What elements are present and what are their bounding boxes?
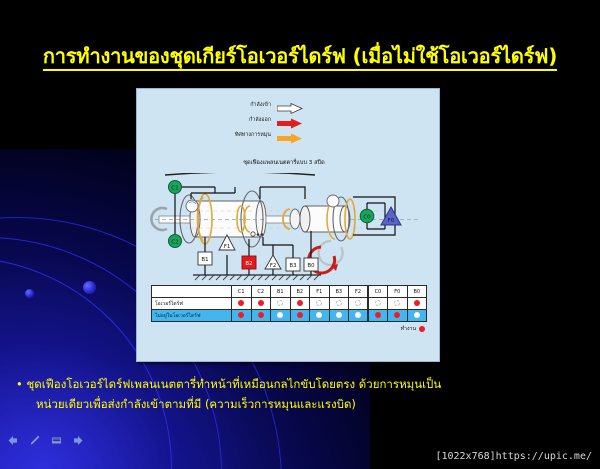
cell-od-b3	[329, 298, 349, 310]
svg-text:F0: F0	[388, 218, 395, 224]
background-dot-2	[83, 281, 96, 294]
legend-label-power-out: กำลังออก	[249, 116, 271, 124]
node-b0: B0	[304, 258, 318, 271]
node-f2: F2	[265, 255, 281, 269]
table-row-not-overdrive: ไม่อยู่ในโอเวอร์ไดร์ฟ	[152, 310, 427, 322]
cell-od-f0	[388, 298, 408, 310]
node-b3: B3	[286, 258, 300, 271]
legend-item-power-out: กำลังออก	[153, 112, 303, 127]
svg-text:B0: B0	[307, 263, 315, 269]
cell-od-b1	[271, 298, 291, 310]
legend-item-rotation-direction: ทิศทางการหมุน	[153, 127, 303, 142]
menu-icon[interactable]	[50, 432, 63, 445]
arrow-right-red-icon	[277, 114, 303, 125]
viewer-nav-bar[interactable]	[6, 432, 85, 445]
table-header-row: C1 C2 B1 B2 F1 B3 F2 C0 F0 B0	[152, 286, 427, 298]
cell-nod-b0	[407, 310, 427, 322]
cell-nod-f2	[349, 310, 369, 322]
diagram-caption: ชุดเฟืองแพลนเนตตารี่แบบ 3 สปีด	[189, 159, 379, 167]
table-footnote-label: ทำงาน	[401, 326, 416, 332]
table-header-f2: F2	[349, 286, 369, 298]
row-label-overdrive: โอเวอร์ไดร์ฟ	[152, 298, 232, 310]
pen-icon[interactable]	[28, 432, 41, 445]
cell-od-c2	[251, 298, 271, 310]
forward-arrow-icon[interactable]	[72, 432, 85, 445]
table-header-b3: B3	[329, 286, 349, 298]
cell-nod-c2	[251, 310, 271, 322]
legend-label-rotation-direction: ทิศทางการหมุน	[235, 131, 271, 139]
node-f0: F0	[381, 207, 401, 225]
table-header-f0: F0	[388, 286, 408, 298]
node-c0: C0	[360, 209, 374, 223]
cell-nod-c0	[368, 310, 388, 322]
node-c1: C1	[169, 181, 182, 194]
cell-od-f2	[349, 298, 369, 310]
table-header-blank	[152, 286, 232, 298]
node-b2: B2	[242, 256, 256, 269]
footer-resolution-note: [1022x768]https://upic.me/	[435, 451, 592, 462]
slide-title: การทำงานของชุดเกียร์โอเวอร์ไดร์ฟ (เมื่อไ…	[0, 40, 600, 72]
table-header-c1: C1	[232, 286, 252, 298]
svg-text:F2: F2	[270, 263, 276, 269]
table-header-f1: F1	[310, 286, 330, 298]
clutch-application-table: C1 C2 B1 B2 F1 B3 F2 C0 F0 B0 โอเวอร์ไดร	[151, 285, 427, 322]
arrow-right-white-icon	[277, 99, 303, 110]
background-dot-1	[25, 289, 34, 298]
table-header-b2: B2	[290, 286, 310, 298]
table-row-overdrive: โอเวอร์ไดร์ฟ	[152, 298, 427, 310]
cell-od-f1	[310, 298, 330, 310]
node-b1: B1	[198, 252, 212, 265]
clutch-application-table-wrap: C1 C2 B1 B2 F1 B3 F2 C0 F0 B0 โอเวอร์ไดร	[151, 285, 427, 333]
table-header-c2: C2	[251, 286, 271, 298]
cell-nod-f0	[388, 310, 408, 322]
cell-nod-b1	[271, 310, 291, 322]
cell-nod-b2	[290, 310, 310, 322]
slide-body-text: • ชุดเฟืองโอเวอร์ไดร์ฟเพลนเนตตารี่ทำหน้า…	[16, 374, 588, 414]
svg-text:F1: F1	[224, 244, 230, 250]
cell-od-c0	[368, 298, 388, 310]
body-line-2: หน่วยเดียวเพื่อส่งกำลังเข้าตามที่มี (ควา…	[36, 394, 588, 414]
figure-legend: กำลังเข้า กำลังออก ทิศทางการหมุน	[153, 97, 303, 142]
table-header-b1: B1	[271, 286, 291, 298]
cell-od-b2	[290, 298, 310, 310]
svg-text:C0: C0	[363, 214, 371, 220]
back-arrow-icon[interactable]	[6, 432, 19, 445]
legend-item-power-in: กำลังเข้า	[153, 97, 303, 112]
cell-od-b0	[407, 298, 427, 310]
row-label-not-overdrive: ไม่อยู่ในโอเวอร์ไดร์ฟ	[152, 310, 232, 322]
body-line-1: • ชุดเฟืองโอเวอร์ไดร์ฟเพลนเนตตารี่ทำหน้า…	[16, 377, 441, 391]
svg-text:B1: B1	[201, 257, 208, 263]
table-header-b0: B0	[407, 286, 427, 298]
cell-nod-c1	[232, 310, 252, 322]
svg-text:C2: C2	[171, 239, 178, 245]
cell-nod-b3	[329, 310, 349, 322]
svg-text:B3: B3	[289, 263, 296, 269]
cell-od-c1	[232, 298, 252, 310]
figure-panel: กำลังเข้า กำลังออก ทิศทางการหมุน	[136, 88, 440, 362]
svg-text:C1: C1	[171, 185, 179, 191]
cell-nod-f1	[310, 310, 330, 322]
table-header-c0: C0	[368, 286, 388, 298]
node-c2: C2	[169, 235, 182, 248]
slide-canvas: การทำงานของชุดเกียร์โอเวอร์ไดร์ฟ (เมื่อไ…	[0, 0, 600, 469]
slide-title-text: การทำงานของชุดเกียร์โอเวอร์ไดร์ฟ (เมื่อไ…	[43, 44, 557, 71]
arrow-right-orange-icon	[277, 129, 303, 140]
table-footnote-marker	[419, 326, 425, 332]
planetary-gearset-diagram: C1 C2 C0 F0	[145, 173, 431, 283]
svg-text:B2: B2	[245, 261, 252, 267]
table-footnote: ทำงาน	[151, 325, 427, 333]
legend-label-power-in: กำลังเข้า	[250, 101, 271, 109]
